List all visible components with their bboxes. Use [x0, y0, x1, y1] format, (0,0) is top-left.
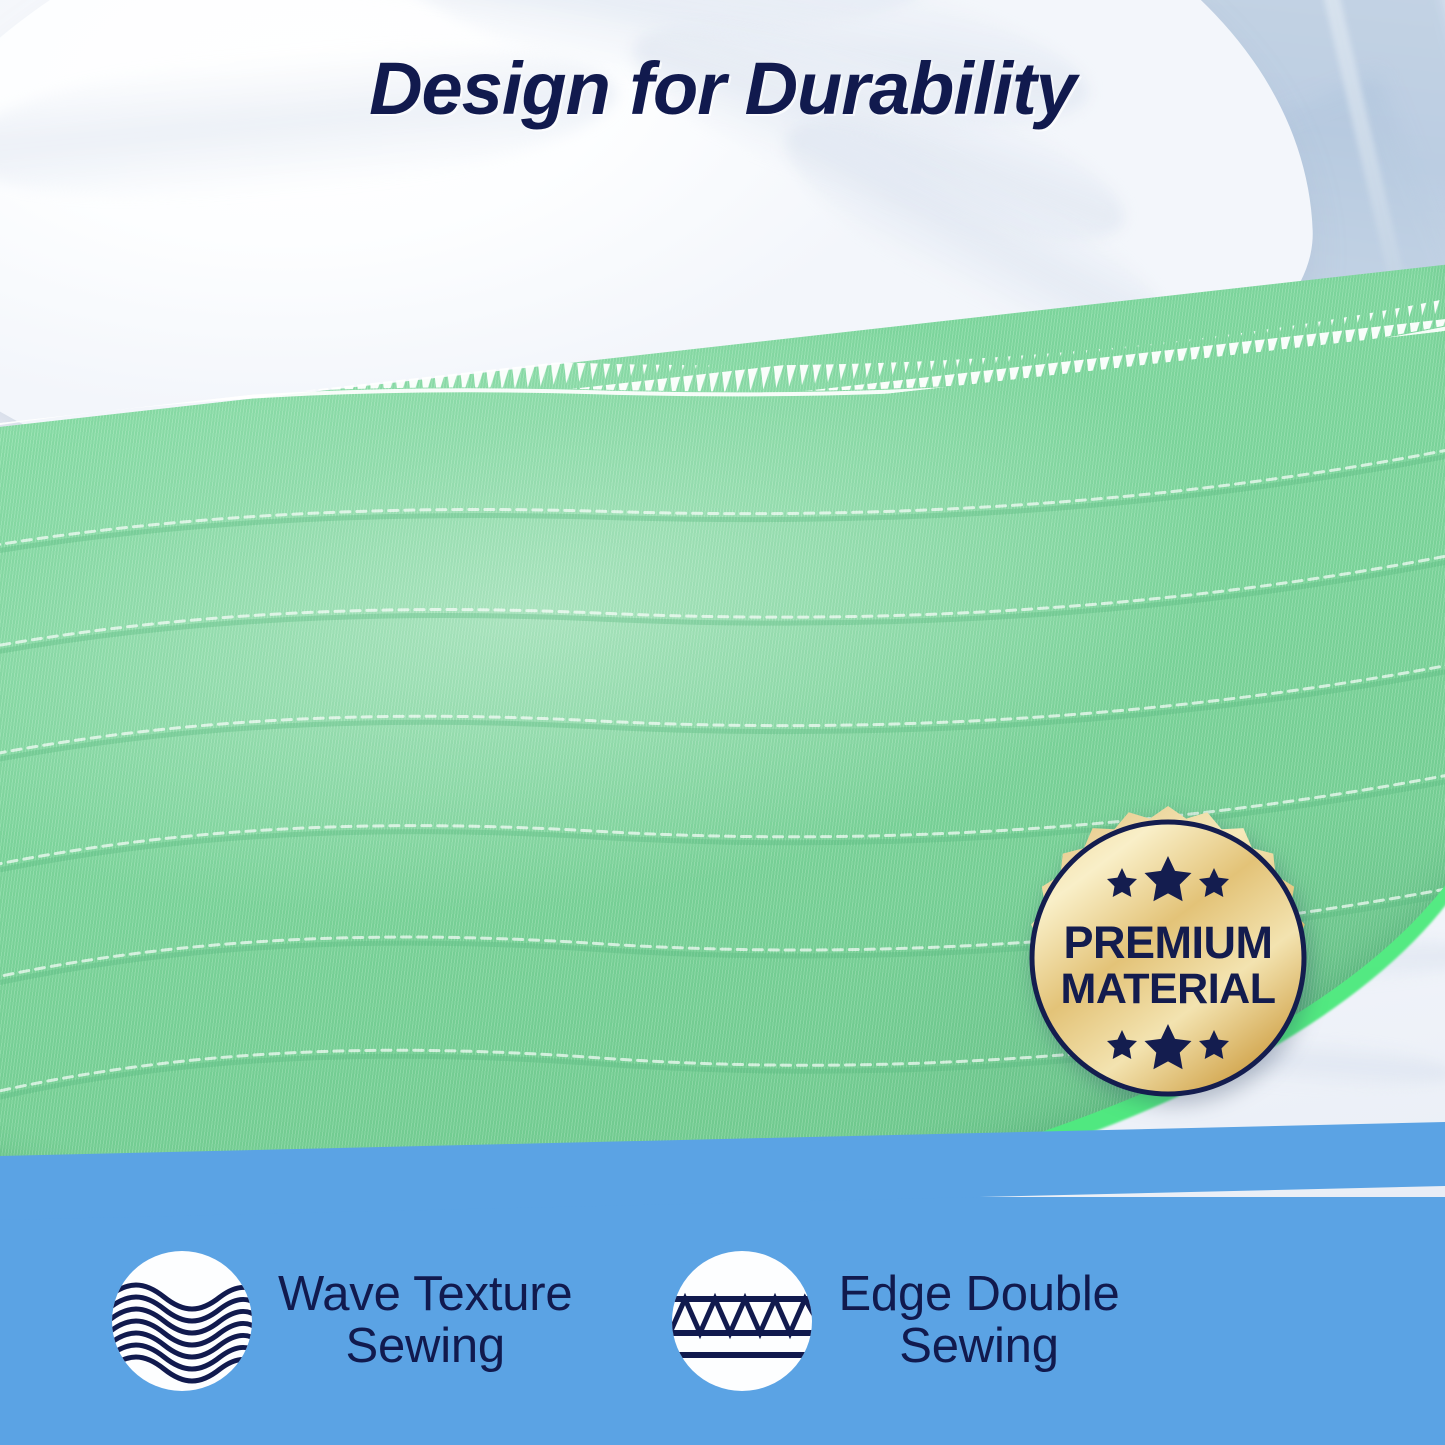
page-title: Design for Durability: [0, 46, 1445, 131]
feature-list: Wave Texture Sewing Edge Double Sewing: [0, 1197, 1445, 1445]
feature-edge-double-sewing: Edge Double Sewing: [672, 1251, 1119, 1391]
feature-label-edge-double-sewing: Edge Double Sewing: [838, 1269, 1119, 1373]
zigzag-stitch-icon: [672, 1251, 812, 1391]
feature-banner: Wave Texture Sewing Edge Double Sewing: [0, 1197, 1445, 1445]
feature-wave-texture-sewing: Wave Texture Sewing: [112, 1251, 572, 1391]
premium-material-badge: PREMIUM MATERIAL: [1000, 798, 1336, 1134]
product-infographic: Design for Durability: [0, 0, 1445, 1445]
wave-lines-icon: [112, 1251, 252, 1391]
feature-label-wave-texture-sewing: Wave Texture Sewing: [278, 1269, 572, 1373]
